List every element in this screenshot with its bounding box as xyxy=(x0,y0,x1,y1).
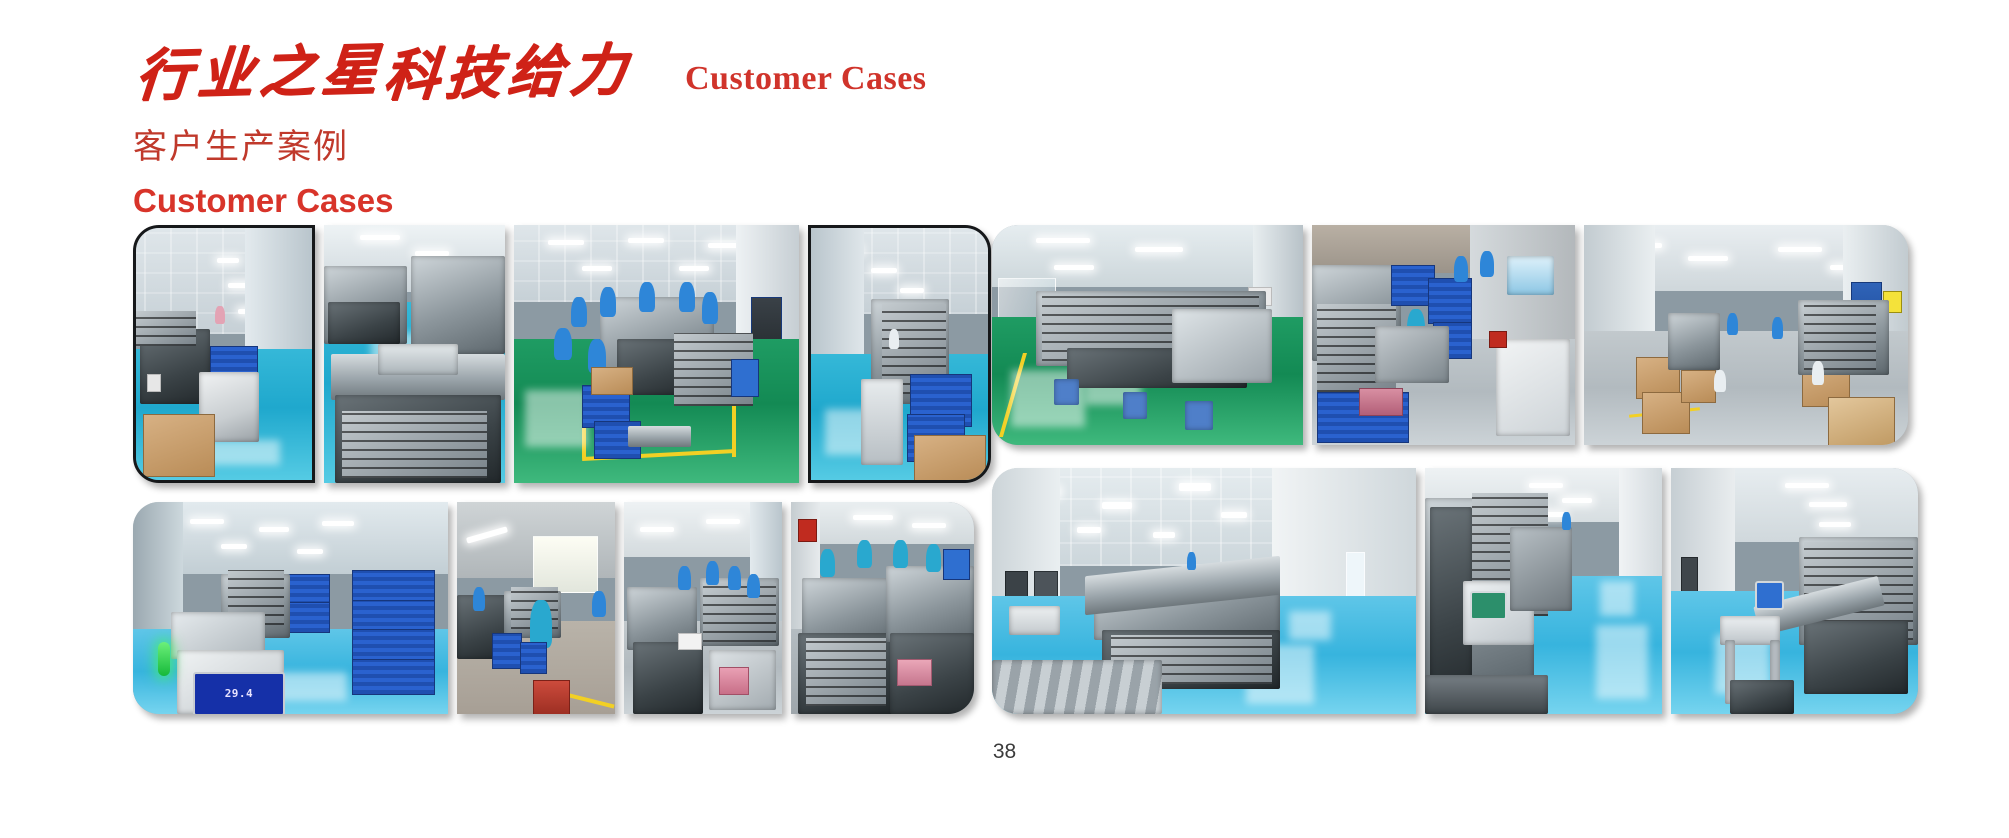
photo-scene xyxy=(1312,225,1575,445)
photo-scene xyxy=(136,228,312,480)
top-left-cluster xyxy=(133,225,991,483)
photo-scene xyxy=(324,225,505,483)
photo-workshop-carts-blue-bins[interactable] xyxy=(1312,225,1575,445)
calligraphy-text-left: 行业之星 xyxy=(133,42,386,104)
photo-workers-assembly-green-floor[interactable] xyxy=(514,225,799,483)
photo-scene xyxy=(992,225,1303,445)
photo-equipment-corridor-crates[interactable] xyxy=(808,225,991,483)
page-title-english: Customer Cases xyxy=(133,184,393,217)
calligraphy-text-right: 科技给力 xyxy=(381,42,634,104)
page-title-chinese: 客户生产案例 xyxy=(133,130,349,164)
presentation-slide: 行业之星 科技给力 Customer Cases 客户生产案例 Customer… xyxy=(0,0,2009,838)
calligraphy-heading-row: 行业之星 科技给力 Customer Cases xyxy=(133,48,927,104)
bottom-left-cluster: 29.4 xyxy=(133,502,974,714)
photo-scene xyxy=(1584,225,1908,445)
photo-scene xyxy=(811,228,988,480)
top-right-cluster xyxy=(992,225,1908,445)
photo-scene xyxy=(1425,468,1662,714)
hmi-value: 29.4 xyxy=(225,687,254,700)
photo-long-production-line[interactable] xyxy=(324,225,505,483)
photo-scene xyxy=(1671,468,1918,714)
green-light-tower xyxy=(158,642,170,676)
photo-assembly-line-blue-caps[interactable] xyxy=(624,502,782,714)
photo-cleanroom-aisle-ibc-tote[interactable] xyxy=(133,225,315,483)
photo-scene xyxy=(457,502,615,714)
hmi-display-panel: 29.4 xyxy=(193,672,285,714)
photo-operator-workstation-blue-bins[interactable] xyxy=(457,502,615,714)
headline-english: Customer Cases xyxy=(685,60,927,98)
photo-scene xyxy=(791,502,974,714)
slide-heading-block: 行业之星 科技给力 Customer Cases 客户生产案例 Customer… xyxy=(133,48,1233,208)
page-number: 38 xyxy=(0,740,2009,764)
photo-scene xyxy=(514,225,799,483)
photo-scene: 29.4 xyxy=(133,502,448,714)
photo-automated-machine-row-green-floor[interactable] xyxy=(992,225,1303,445)
photo-packing-hall-cartons[interactable] xyxy=(1584,225,1908,445)
bottom-right-cluster xyxy=(992,468,1918,714)
photo-green-light-tower-hmi[interactable]: 29.4 xyxy=(133,502,448,714)
photo-cleanroom-corridor-conveyor[interactable] xyxy=(1671,468,1918,714)
photo-scene xyxy=(624,502,782,714)
photo-machine-row-reflective-floor[interactable] xyxy=(1425,468,1662,714)
photo-scene xyxy=(992,468,1416,714)
photo-dense-machine-row-operators[interactable] xyxy=(791,502,974,714)
photo-wide-cleanroom-hall[interactable] xyxy=(992,468,1416,714)
